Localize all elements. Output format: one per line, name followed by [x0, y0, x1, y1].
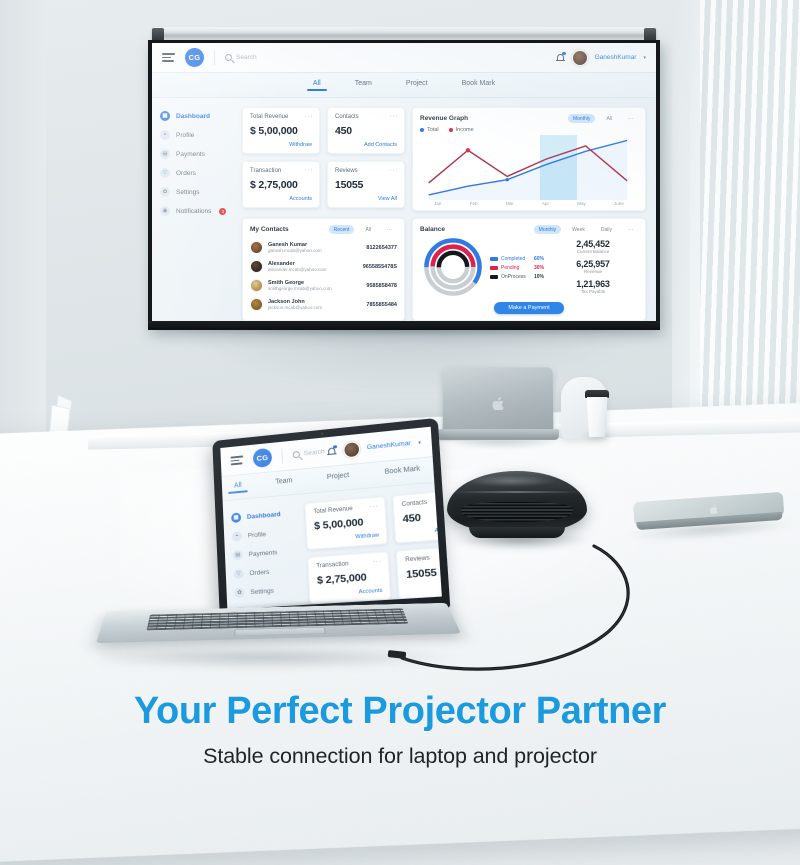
bell-icon: ◉ — [160, 206, 170, 216]
graph-menu-icon[interactable]: ··· — [623, 114, 638, 123]
list-item[interactable]: Alexander alexander.mcab@yahoo.com 96558… — [250, 257, 397, 276]
projector-vent-grille — [461, 502, 573, 522]
sidebar-item-orders[interactable]: ▽ Orders — [233, 565, 300, 580]
contact-email: ganesh.mcab@yahoo.com — [268, 248, 361, 253]
card-value: 15055 — [406, 564, 442, 581]
card-balance: Balance Monthly Week Daily ··· — [412, 218, 646, 321]
balance-controls: Monthly Week Daily ··· — [534, 225, 638, 234]
sidebar-item-notifications[interactable]: ◉ Notifications 3 — [160, 206, 234, 216]
sidebar-item-payments[interactable]: ▤ Payments — [233, 546, 300, 561]
card-menu-icon[interactable]: ··· — [373, 558, 382, 566]
contact-email: jackson.mcab@yahoo.com — [268, 305, 361, 310]
graph-filter-all[interactable]: All — [601, 114, 617, 123]
tab-team[interactable]: Team — [275, 477, 293, 489]
tab-all[interactable]: All — [313, 80, 321, 91]
sidebar-item-settings[interactable]: ✿ Settings — [160, 187, 234, 197]
legend-pending: Pending 30% — [490, 265, 544, 271]
revenue-graph-xaxis: Jan Feb Mar Apr May June — [420, 201, 638, 206]
laptop-base — [437, 429, 559, 440]
headline-text: Your Perfect Projector Partner — [0, 692, 800, 730]
topbar-divider — [281, 449, 283, 464]
avatar[interactable] — [343, 440, 360, 458]
laptop-keyboard[interactable] — [147, 608, 409, 630]
laptop-dashboard-screen: CG Search GaneshKumar ▾ — [220, 427, 442, 610]
bell-icon[interactable] — [556, 53, 565, 63]
search-input[interactable]: Search — [225, 54, 556, 61]
gear-icon: ✿ — [234, 588, 244, 599]
balance-figures: 2,45,452 Current Balance 6,25,957 Revenu… — [548, 239, 638, 294]
figure-value: 1,21,963 — [576, 279, 609, 289]
list-item[interactable]: Jackson John jackson.mcab@yahoo.com 7855… — [250, 295, 397, 314]
card-transaction[interactable]: ··· Transaction $ 2,75,000 Accounts — [242, 161, 320, 208]
contacts-header: My Contacts Recent All ··· — [250, 225, 397, 234]
avatar — [250, 298, 263, 311]
card-title: Transaction — [316, 559, 381, 570]
app-logo[interactable]: CG — [253, 448, 273, 468]
card-title: Contacts — [335, 114, 397, 120]
coffee-cup[interactable] — [585, 390, 609, 438]
screen-drop-shadow — [156, 330, 656, 336]
webcam-icon — [321, 433, 323, 435]
dashboard-main: ··· Total Revenue $ 5,00,000 Withdraw ··… — [242, 107, 646, 315]
card-title: Transaction — [250, 168, 312, 174]
laptop-trackpad[interactable] — [234, 627, 326, 636]
contact-phone: 7855855484 — [366, 302, 397, 308]
stat-column-1: ··· Total Revenue $ 5,00,000 Withdraw ··… — [305, 496, 392, 604]
hamburger-icon[interactable] — [230, 456, 243, 466]
stat-column-2: ··· Contacts 450 Add Contacts ··· Review… — [327, 107, 405, 211]
card-contacts[interactable]: ··· Contacts 450 Add Contacts — [327, 107, 405, 154]
revenue-graph-title: Revenue Graph — [420, 115, 468, 122]
sidebar-label-payments: Payments — [176, 151, 205, 158]
card-link-view-all[interactable]: View All — [335, 196, 397, 202]
search-icon — [293, 451, 300, 459]
revenue-graph-controls: Monthly All ··· — [568, 114, 638, 123]
sidebar-item-settings[interactable]: ✿ Settings — [234, 584, 301, 598]
balance-legend: Completed 60% Pending 30% — [490, 254, 544, 280]
projected-dashboard-surface: CG Search GaneshKumar ▾ — [152, 43, 656, 321]
graph-filter-monthly[interactable]: Monthly — [568, 114, 596, 123]
card-link-add-contacts[interactable]: Add Contacts — [403, 525, 441, 536]
bag-icon: ▽ — [233, 569, 243, 580]
card-reviews[interactable]: ··· Reviews 15055 View All — [396, 545, 442, 600]
tab-book-mark[interactable]: Book Mark — [384, 465, 420, 479]
projection-screen-frame: CG Search GaneshKumar ▾ — [148, 40, 660, 330]
card-link-view-all[interactable]: View All — [407, 582, 442, 593]
list-item[interactable]: Ganesh Kumar ganesh.mcab@yahoo.com 81226… — [250, 238, 397, 257]
avatar — [250, 279, 263, 292]
card-link-accounts[interactable]: Accounts — [250, 196, 312, 202]
projector-seam — [453, 491, 581, 493]
marketing-caption: Your Perfect Projector Partner Stable co… — [0, 686, 800, 800]
search-placeholder: Search — [236, 54, 257, 61]
main-laptop-lid: CG Search GaneshKumar ▾ — [212, 418, 450, 621]
sidebar-item-dashboard[interactable]: ▦ Dashboard — [160, 111, 234, 121]
search-input[interactable]: Search — [293, 448, 327, 458]
open-macbook[interactable] — [437, 367, 559, 447]
sidebar-item-dashboard[interactable]: ▦ Dashboard — [231, 508, 297, 523]
sidebar-label-orders: Orders — [176, 170, 196, 177]
sidebar-label-dashboard: Dashboard — [176, 113, 210, 120]
legend-total: Total — [420, 127, 439, 133]
tab-project[interactable]: Project — [406, 80, 428, 91]
card-reviews[interactable]: ··· Reviews 15055 View All — [327, 161, 405, 208]
username-label[interactable]: GaneshKumar — [367, 440, 411, 451]
avatar — [250, 260, 263, 273]
card-total-revenue[interactable]: ··· Total Revenue $ 5,00,000 Withdraw — [242, 107, 320, 154]
tab-project[interactable]: Project — [327, 472, 350, 485]
card-menu-icon[interactable]: ··· — [305, 113, 314, 120]
balance-menu-icon[interactable]: ··· — [623, 225, 638, 234]
search-icon — [225, 54, 232, 61]
revenue-graph-header: Revenue Graph Monthly All ··· — [420, 114, 638, 123]
card-link-withdraw[interactable]: Withdraw — [250, 142, 312, 148]
balance-filter-monthly[interactable]: Monthly — [534, 225, 562, 234]
chevron-down-icon[interactable]: ▾ — [418, 439, 421, 445]
dashboard-app-projected: CG Search GaneshKumar ▾ — [152, 43, 656, 321]
figure-value: 2,45,452 — [576, 239, 609, 249]
card-link-add-contacts[interactable]: Add Contacts — [335, 142, 397, 148]
card-icon: ▤ — [233, 550, 243, 561]
card-value: 450 — [402, 508, 442, 526]
apple-logo-icon — [709, 504, 718, 514]
sidebar-label-orders: Orders — [249, 568, 269, 576]
card-contacts[interactable]: ··· Contacts 450 Add Contacts — [393, 488, 442, 543]
legend-income: Income — [449, 127, 474, 133]
cup-body — [587, 397, 608, 437]
dashboard-tabs: All Team Project Book Mark — [152, 73, 656, 98]
list-item[interactable]: Smith George smithgeorge.mcab@yahoo.com … — [250, 276, 397, 295]
card-title: Reviews — [335, 168, 397, 174]
gear-icon: ✿ — [160, 187, 170, 197]
apple-logo-icon — [492, 397, 503, 410]
contacts-controls: Recent All ··· — [329, 225, 397, 234]
card-icon: ▤ — [160, 149, 170, 159]
contacts-filter-recent[interactable]: Recent — [329, 225, 355, 234]
balance-title: Balance — [420, 226, 445, 233]
screen-bottom-weight-bar — [148, 321, 660, 330]
grid-icon: ▦ — [231, 512, 241, 523]
laptop-lid — [443, 367, 554, 433]
card-title: Total Revenue — [250, 114, 312, 120]
figure-label: Revenue — [576, 269, 609, 274]
balance-filter-daily[interactable]: Daily — [596, 225, 617, 234]
topbar-right-group: GaneshKumar ▾ — [556, 50, 646, 66]
sidebar-label-profile: Profile — [248, 531, 267, 539]
chevron-down-icon[interactable]: ▾ — [643, 55, 646, 61]
card-total-revenue[interactable]: ··· Total Revenue $ 5,00,000 Withdraw — [305, 496, 388, 550]
figure-value: 6,25,957 — [576, 259, 609, 269]
figure-label: Tax Payable — [576, 289, 609, 294]
user-icon: ◓ — [160, 130, 170, 140]
cup-lid — [585, 390, 609, 398]
card-value: $ 2,75,000 — [317, 570, 382, 587]
sidebar-label-notifications: Notifications — [176, 208, 211, 215]
hamburger-icon[interactable] — [162, 53, 175, 62]
user-icon: ◓ — [232, 531, 242, 542]
main-laptop-shadow — [100, 651, 460, 669]
sidebar-label-dashboard: Dashboard — [247, 511, 281, 521]
contact-email: alexander.mcab@yahoo.com — [268, 267, 358, 272]
balance-header: Balance Monthly Week Daily ··· — [420, 225, 638, 234]
screen-roller-bar[interactable] — [152, 27, 656, 41]
legend-onprocess: OnProcess 10% — [490, 274, 544, 280]
card-menu-icon[interactable]: ··· — [390, 113, 399, 120]
dashboard-body: ▦ Dashboard ◓ Profile ▤ Payments ▽ — [152, 99, 656, 321]
figure-label: Current Balance — [576, 249, 609, 254]
main-macbook-pro[interactable]: CG Search GaneshKumar ▾ — [108, 437, 448, 667]
main-laptop-base — [96, 603, 461, 643]
dashboard-row-bottom: My Contacts Recent All ··· — [242, 218, 646, 321]
legend-completed: Completed 60% — [490, 256, 544, 262]
sidebar-item-orders[interactable]: ▽ Orders — [160, 168, 234, 178]
contacts-filter-all[interactable]: All — [360, 225, 376, 234]
dashboard-topbar: CG Search GaneshKumar ▾ — [152, 43, 656, 73]
contact-email: smithgeorge.mcab@yahoo.com — [268, 286, 361, 291]
card-menu-icon[interactable]: ··· — [305, 167, 314, 174]
stat-column-2: ··· Contacts 450 Add Contacts ··· Review… — [393, 488, 442, 599]
card-value: 15055 — [335, 179, 397, 191]
stat-column-1: ··· Total Revenue $ 5,00,000 Withdraw ··… — [242, 107, 320, 211]
revenue-graph-legend: Total Income — [420, 127, 638, 133]
dashboard-app-laptop: CG Search GaneshKumar ▾ — [220, 427, 442, 610]
bell-icon[interactable] — [326, 446, 336, 457]
balance-body: Completed 60% Pending 30% — [420, 234, 638, 299]
contact-phone: 9655855478S — [363, 264, 397, 270]
card-my-contacts: My Contacts Recent All ··· — [242, 218, 405, 321]
search-placeholder: Search — [304, 448, 325, 457]
status-badge: 3 — [219, 208, 226, 215]
dashboard-row-top: ··· Total Revenue $ 5,00,000 Withdraw ··… — [242, 107, 646, 211]
tab-all[interactable]: All — [234, 481, 242, 492]
card-title: Reviews — [405, 552, 442, 563]
app-logo[interactable]: CG — [185, 48, 204, 67]
avatar — [250, 241, 263, 254]
dashboard-sidebar: ▦ Dashboard ◓ Profile ▤ Payments ▽ — [160, 107, 234, 315]
sidebar-item-payments[interactable]: ▤ Payments — [160, 149, 234, 159]
contact-phone: 9585858478 — [366, 283, 397, 289]
card-revenue-graph: Revenue Graph Monthly All ··· — [412, 107, 646, 211]
card-value: $ 5,00,000 — [314, 515, 379, 532]
bag-icon: ▽ — [160, 168, 170, 178]
card-value: $ 2,75,000 — [250, 179, 312, 191]
username-label[interactable]: GaneshKumar — [595, 54, 637, 61]
dashboard-body: ▦ Dashboard ◓ Profile ▤ Payments ▽ — [223, 484, 442, 610]
make-a-payment-button[interactable]: Make a Payment — [494, 302, 563, 314]
topbar-divider — [214, 50, 215, 65]
balance-donut-chart — [420, 236, 486, 298]
card-menu-icon[interactable]: ··· — [369, 503, 378, 511]
revenue-graph-plot — [420, 135, 638, 200]
balance-filter-week[interactable]: Week — [567, 225, 590, 234]
card-menu-icon[interactable]: ··· — [390, 167, 399, 174]
card-title: Contacts — [402, 496, 442, 508]
dashboard-sidebar: ▦ Dashboard ◓ Profile ▤ Payments ▽ — [231, 504, 302, 603]
laptop-shadow — [437, 439, 565, 449]
projector-highlight — [465, 475, 557, 487]
card-title: Total Revenue — [313, 504, 377, 515]
contact-phone: 8122654377 — [366, 245, 397, 251]
tab-book-mark[interactable]: Book Mark — [462, 80, 495, 91]
card-link-withdraw[interactable]: Withdraw — [315, 532, 380, 543]
card-value: 450 — [335, 125, 397, 137]
card-value: $ 5,00,000 — [250, 125, 312, 137]
avatar[interactable] — [572, 50, 588, 66]
sidebar-item-profile[interactable]: ◓ Profile — [232, 527, 299, 542]
sidebar-item-profile[interactable]: ◓ Profile — [160, 130, 234, 140]
subheadline-text: Stable connection for laptop and project… — [0, 744, 800, 769]
sidebar-label-profile: Profile — [176, 132, 194, 139]
contacts-title: My Contacts — [250, 226, 289, 233]
projection-screen-assembly: CG Search GaneshKumar ▾ — [148, 27, 660, 340]
card-transaction[interactable]: ··· Transaction $ 2,75,000 Accounts — [308, 551, 392, 604]
sidebar-label-settings: Settings — [176, 189, 200, 196]
contacts-menu-icon[interactable]: ··· — [382, 225, 397, 234]
sidebar-label-settings: Settings — [250, 587, 274, 596]
topbar-right-group: GaneshKumar ▾ — [326, 434, 421, 459]
card-link-accounts[interactable]: Accounts — [318, 588, 383, 598]
grid-icon: ▦ — [160, 111, 170, 121]
tab-team[interactable]: Team — [355, 80, 372, 91]
sidebar-label-payments: Payments — [248, 549, 277, 558]
